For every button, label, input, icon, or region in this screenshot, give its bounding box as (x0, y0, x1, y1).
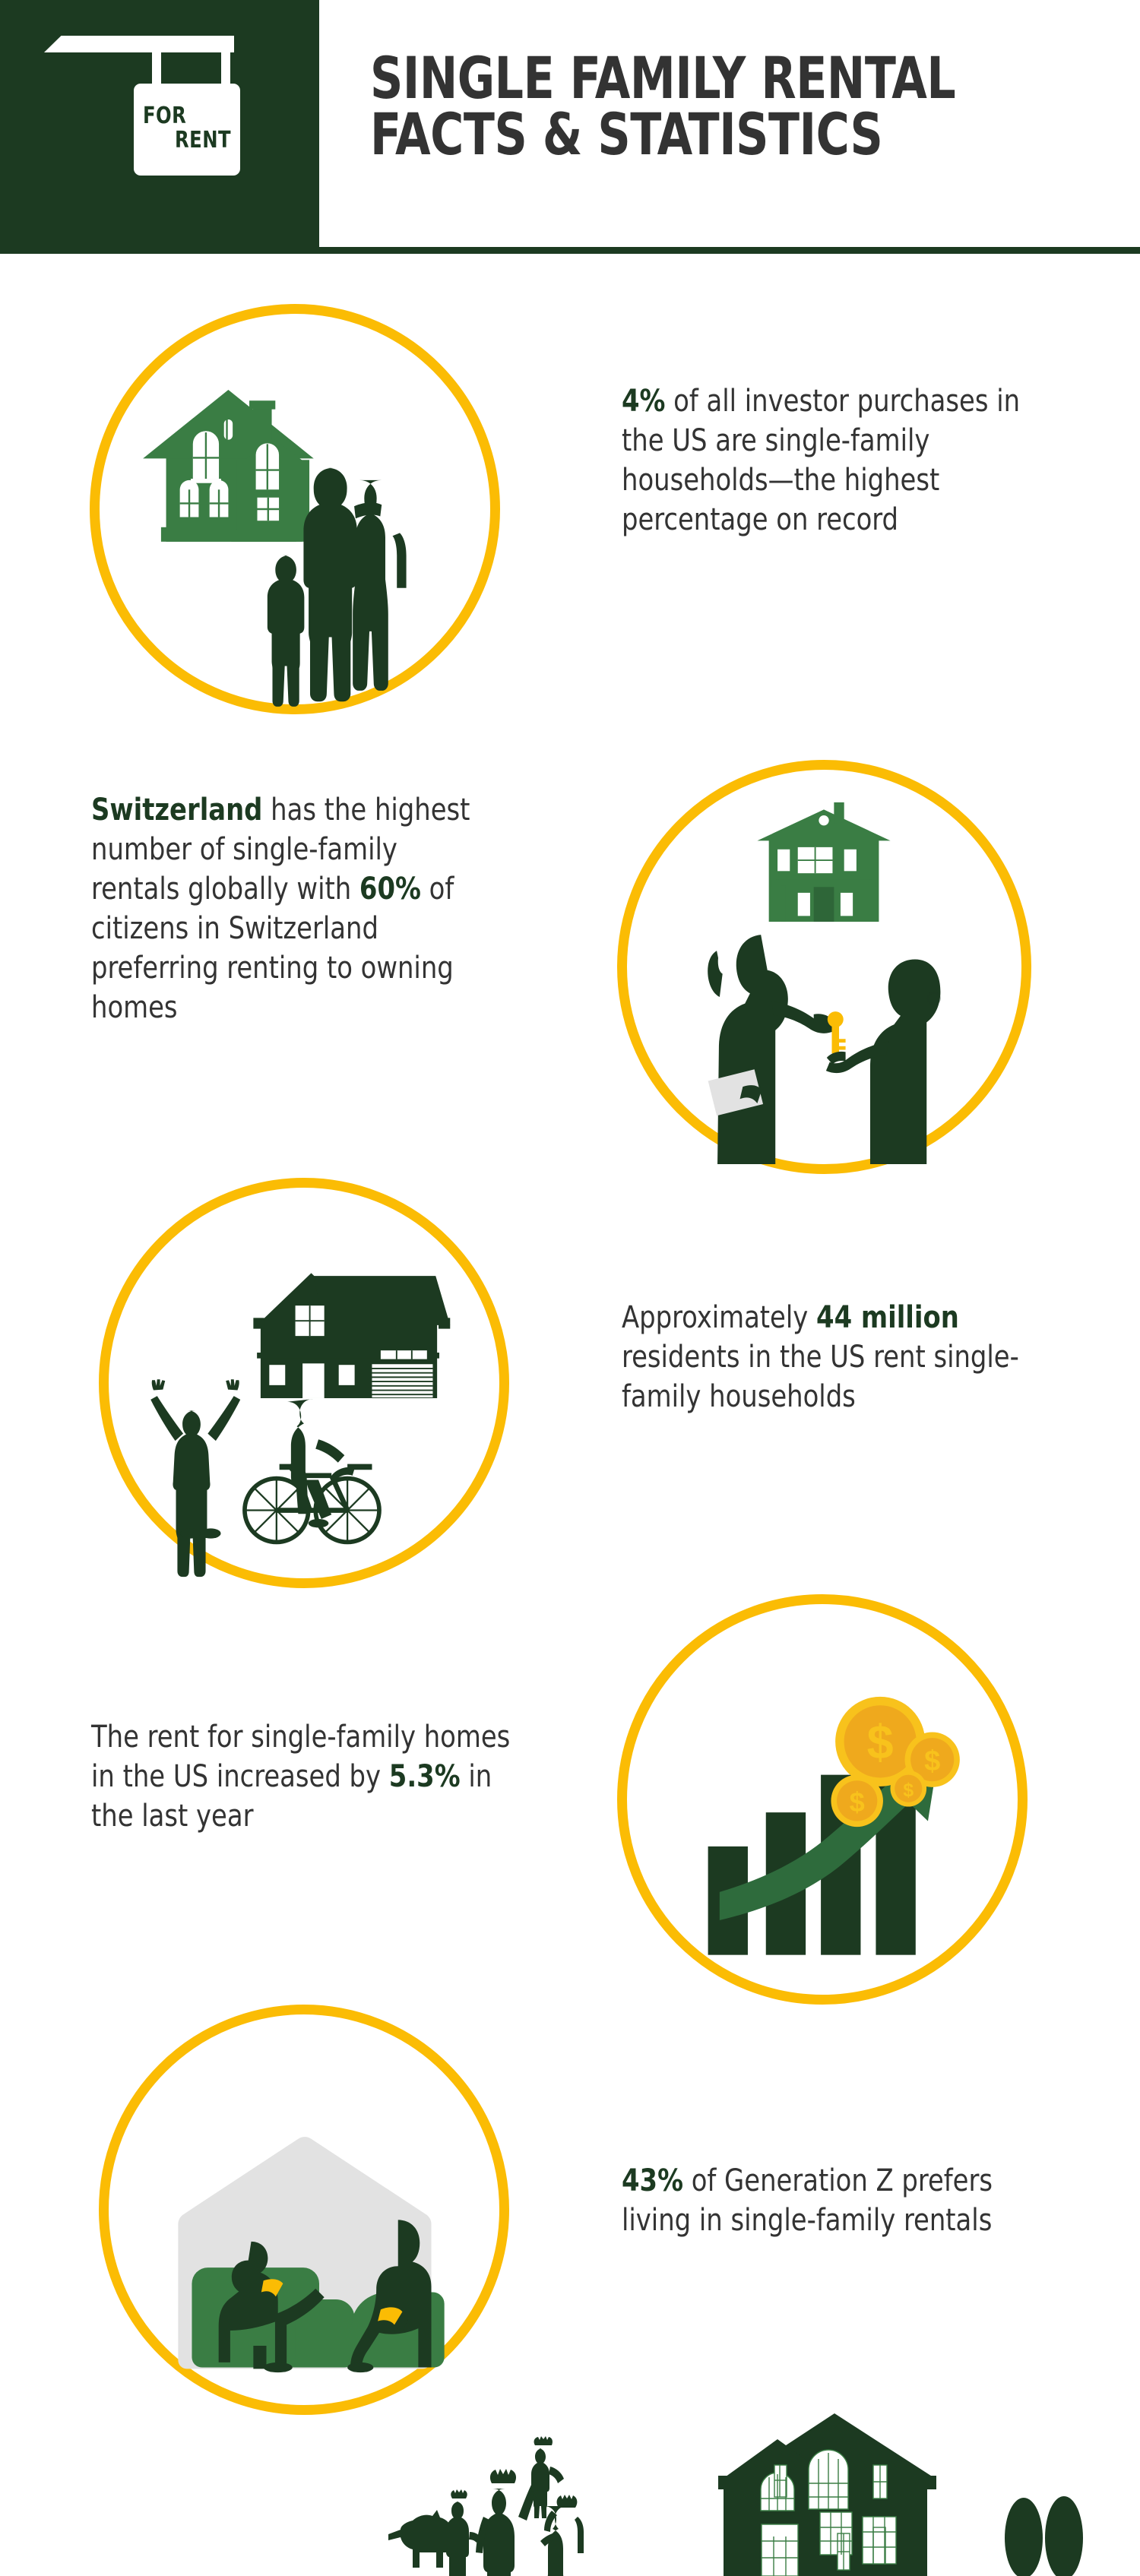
illustration-circle-3 (99, 1178, 509, 1588)
family-with-dog-icon (388, 2436, 584, 2576)
fact-text-4: The rent for single-family homes in the … (91, 1717, 513, 1836)
fact-row-switzerland: Switzerland has the highest number of si… (0, 745, 1140, 1170)
fact-highlight-1: 4% (622, 384, 665, 419)
house-garage-cyclist-icon (109, 1188, 499, 1578)
fact-highlight-5: 43% (622, 2163, 683, 2198)
sign-post-right (221, 47, 230, 87)
header-underline (0, 247, 1140, 254)
illustration-circle-5 (99, 2005, 509, 2415)
sign-board: FOR RENT (134, 84, 240, 176)
fact-text-3: Approximately 44 million residents in th… (622, 1298, 1050, 1416)
svg-text:$: $ (924, 1745, 940, 1777)
illustration-circle-4: $ $ $ $ (617, 1594, 1028, 2005)
coin-medium-left: $ (831, 1775, 883, 1828)
fact-row-gen-z: 43% of Generation Z prefers living in si… (0, 1991, 1140, 2416)
key-handover-icon (627, 770, 1021, 1164)
page-title: SINGLE FAMILY RENTAL FACTS & STATISTICS (370, 50, 1100, 163)
fact-text-1: 4% of all investor purchases in the US a… (622, 381, 1050, 540)
svg-text:$: $ (903, 1780, 914, 1801)
svg-text:$: $ (867, 1717, 894, 1770)
bottom-scene-illustration (0, 2386, 1140, 2576)
fact-text-2: Switzerland has the highest number of si… (91, 790, 491, 1027)
header: FOR RENT SINGLE FAMILY RENTAL FACTS & ST… (0, 0, 1140, 253)
fact-lead-3: Approximately (622, 1300, 816, 1335)
house-with-family-icon (100, 314, 490, 704)
fact-highlight-3: 44 million (816, 1300, 959, 1335)
sign-label-for: FOR (143, 104, 222, 128)
fact-body-1: of all investor purchases in the US are … (622, 384, 1020, 537)
celebrating-person (150, 1379, 240, 1577)
fact-row-investor-purchases: 4% of all investor purchases in the US a… (0, 296, 1140, 737)
page-title-line-1: SINGLE FAMILY RENTAL (370, 50, 1012, 106)
infographic-page: FOR RENT SINGLE FAMILY RENTAL FACTS & ST… (0, 0, 1140, 2576)
fact-row-us-renters: Approximately 44 million residents in th… (0, 1163, 1140, 1588)
page-title-line-2: FACTS & STATISTICS (370, 106, 1012, 163)
fact-highlight-4: 5.3% (389, 1759, 461, 1794)
sign-label-rent: RENT (152, 128, 231, 153)
fact-text-5: 43% of Generation Z prefers living in si… (622, 2161, 1050, 2240)
sign-arm (44, 36, 234, 52)
coin-small: $ (890, 1771, 926, 1807)
fact-highlight-2a: Switzerland (91, 793, 262, 828)
fact-body-3: residents in the US rent single-family h… (622, 1340, 1019, 1414)
cyclist-icon (245, 1399, 379, 1542)
fact-highlight-2b: 60% (359, 872, 421, 907)
illustration-circle-1 (90, 304, 500, 714)
illustration-circle-2 (617, 760, 1031, 1174)
sign-post-left (152, 47, 161, 87)
svg-text:$: $ (850, 1786, 865, 1818)
house-interior-lounge-icon (109, 2014, 499, 2405)
bottom-scene (0, 2386, 1140, 2576)
trees-icon (1005, 2496, 1083, 2576)
growth-chart-coins-icon: $ $ $ $ (627, 1604, 1018, 1995)
fact-row-rent-increase: $ $ $ $ The rent f (0, 1581, 1140, 2006)
victorian-house-icon (718, 2413, 936, 2576)
